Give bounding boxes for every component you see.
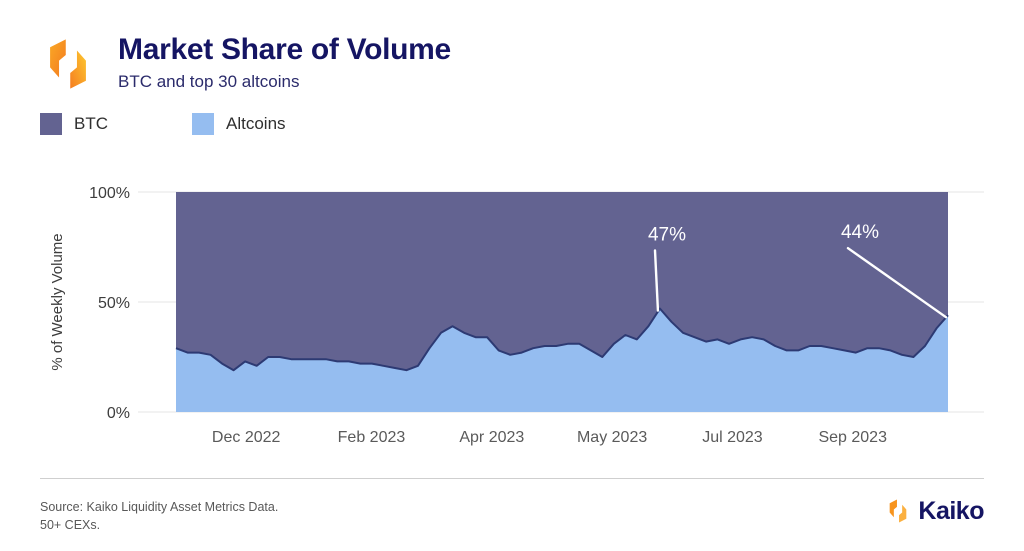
kaiko-logo-icon — [40, 36, 96, 92]
x-axis-tick-label: Dec 2022 — [212, 429, 281, 446]
stacked-area-chart: 0%50%100%% of Weekly Volume Dec 2022Feb … — [0, 160, 1024, 460]
footer: Source: Kaiko Liquidity Asset Metrics Da… — [0, 478, 1024, 551]
source-note: Source: Kaiko Liquidity Asset Metrics Da… — [40, 498, 278, 534]
y-axis-title: % of Weekly Volume — [49, 233, 66, 370]
legend-label-btc: BTC — [74, 114, 108, 134]
brand-wordmark: Kaiko — [918, 498, 984, 524]
x-axis-tick-label: Jul 2023 — [702, 429, 763, 446]
source-line-1: Source: Kaiko Liquidity Asset Metrics Da… — [40, 498, 278, 516]
legend-swatch-altcoins — [192, 113, 214, 135]
page-subtitle: BTC and top 30 altcoins — [118, 71, 451, 93]
kaiko-logo-icon — [885, 498, 911, 524]
x-axis: Dec 2022Feb 2023Apr 2023May 2023Jul 2023… — [212, 429, 887, 446]
x-axis-tick-label: May 2023 — [577, 429, 647, 446]
footer-divider — [40, 478, 984, 479]
y-axis-tick-label: 50% — [98, 295, 130, 312]
annotation-label: 47% — [648, 224, 686, 245]
y-axis-tick-label: 100% — [89, 185, 130, 202]
chart-page: Market Share of Volume BTC and top 30 al… — [0, 0, 1024, 551]
y-axis: 0%50%100%% of Weekly Volume — [49, 185, 130, 422]
area-series-layer — [176, 192, 948, 412]
header: Market Share of Volume BTC and top 30 al… — [0, 0, 1024, 105]
source-line-2: 50+ CEXs. — [40, 516, 278, 534]
footer-brand: Kaiko — [885, 498, 984, 524]
x-axis-tick-label: Feb 2023 — [338, 429, 406, 446]
chart-legend: BTC Altcoins — [40, 113, 370, 135]
annotation-label: 44% — [841, 222, 879, 243]
legend-item-altcoins[interactable]: Altcoins — [192, 113, 286, 135]
area-series-btc — [176, 192, 948, 370]
legend-label-altcoins: Altcoins — [226, 114, 286, 134]
legend-item-btc[interactable]: BTC — [40, 113, 108, 135]
x-axis-tick-label: Sep 2023 — [818, 429, 887, 446]
y-axis-tick-label: 0% — [107, 405, 130, 422]
x-axis-tick-label: Apr 2023 — [459, 429, 524, 446]
chart-plot-area: 0%50%100%% of Weekly Volume Dec 2022Feb … — [0, 160, 1024, 460]
title-block: Market Share of Volume BTC and top 30 al… — [118, 32, 451, 93]
legend-swatch-btc — [40, 113, 62, 135]
page-title: Market Share of Volume — [118, 32, 451, 68]
